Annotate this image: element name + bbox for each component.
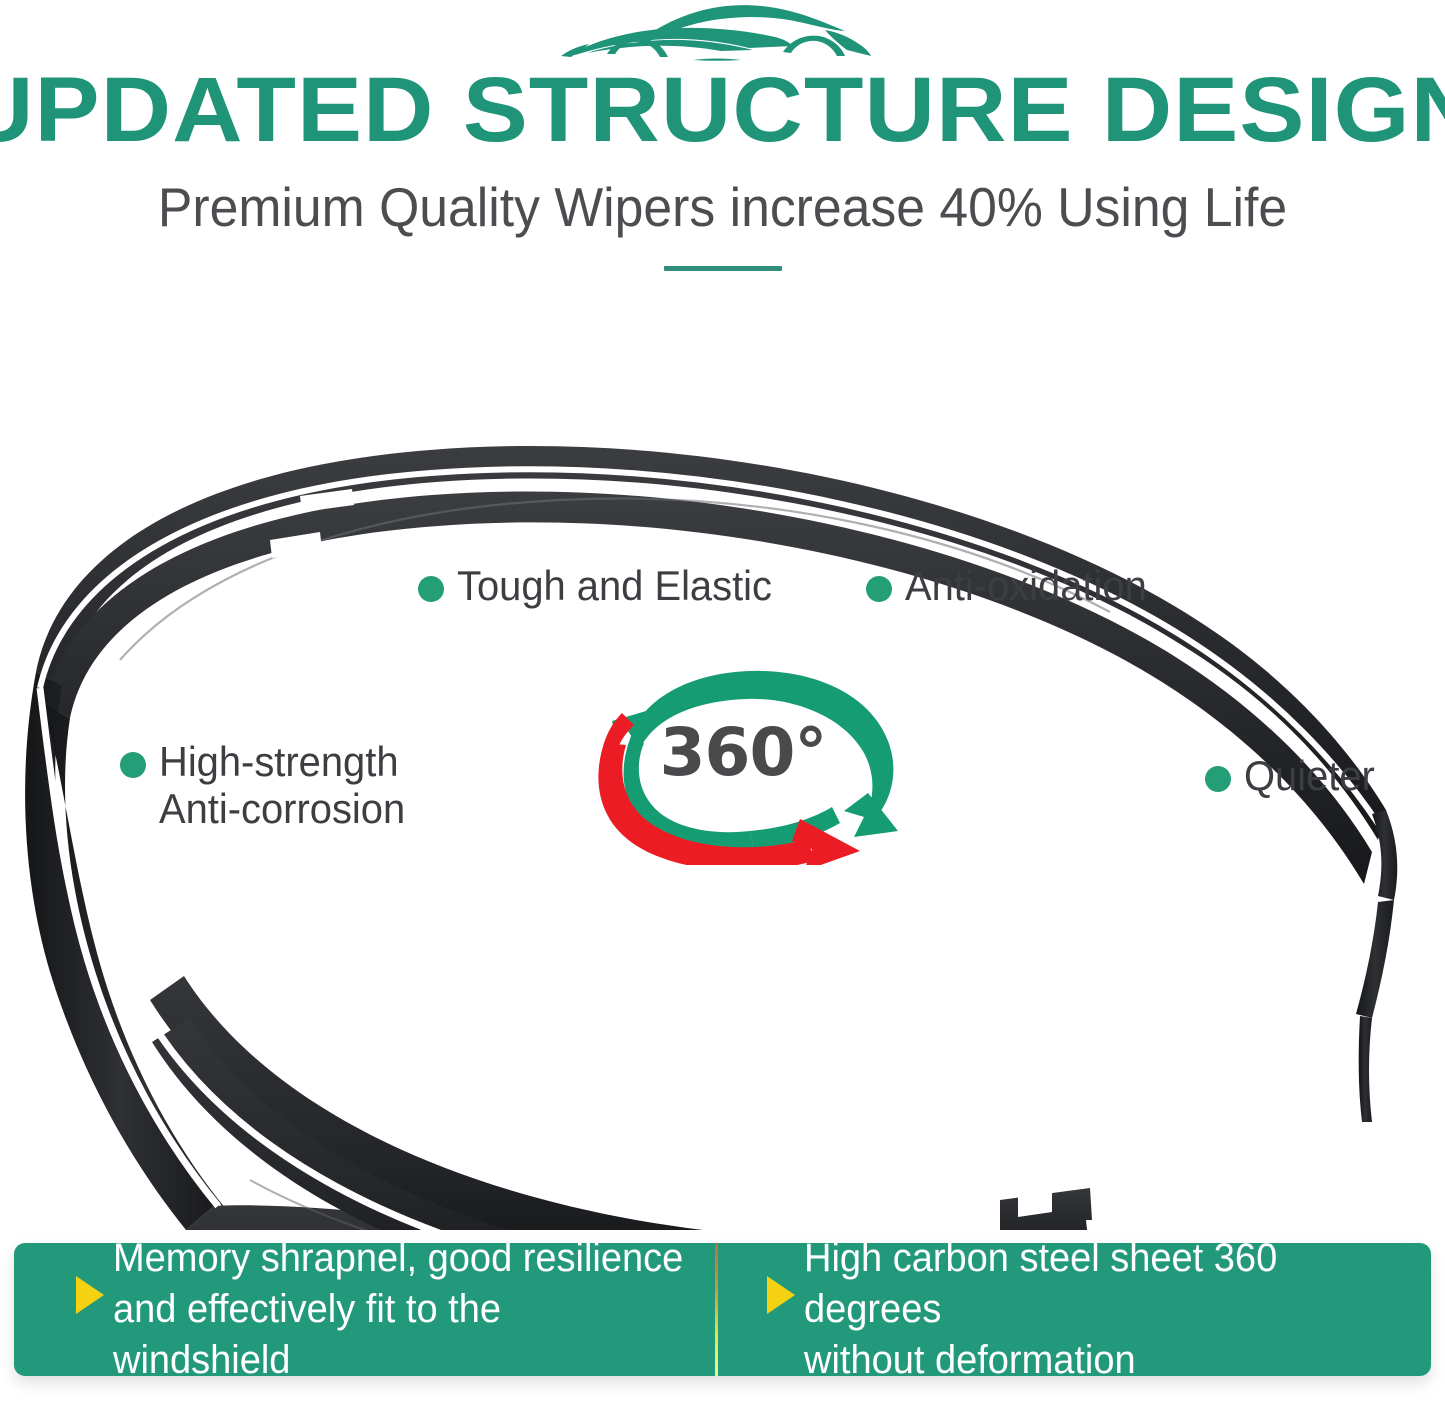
feature-label-text: High-strength Anti-corrosion [159,738,405,832]
banner-item-memory-shrapnel: Memory shrapnel, good resilience and eff… [14,1243,715,1376]
feature-label-tough-elastic: Tough and Elastic [418,562,789,609]
sports-car-silhouette-icon [553,4,893,66]
play-triangle-icon [76,1276,104,1314]
feature-label-quieter: Quieter [1205,752,1382,799]
page-subtitle: Premium Quality Wipers increase 40% Usin… [43,176,1401,238]
banner-item-text: High carbon steel sheet 360 degrees with… [804,1233,1400,1386]
page-title: UPDATED STRUCTURE DESIGN [0,62,1445,158]
play-triangle-icon [767,1276,795,1314]
banner-item-high-carbon-steel: High carbon steel sheet 360 degrees with… [715,1243,1431,1376]
feature-label-anti-oxidation: Anti-oxidation [866,562,1159,609]
feature-label-text: Tough and Elastic [457,562,772,609]
title-divider [664,266,782,271]
banner-divider [715,1243,718,1376]
feature-label-high-strength: High-strength Anti-corrosion [120,738,418,832]
feature-label-text: Anti-oxidation [905,562,1147,609]
bullet-dot-icon [866,576,892,602]
bullet-dot-icon [1205,766,1231,792]
badge-value: 360° [568,718,918,788]
bullet-dot-icon [418,576,444,602]
feature-label-text: Quieter [1244,752,1375,799]
rotation-360-badge: 360° [568,655,918,865]
bullet-dot-icon [120,752,146,778]
header: UPDATED STRUCTURE DESIGN Premium Quality… [0,0,1445,300]
banner-item-text: Memory shrapnel, good resilience and eff… [113,1233,685,1386]
bottom-feature-banner: Memory shrapnel, good resilience and eff… [14,1243,1431,1376]
